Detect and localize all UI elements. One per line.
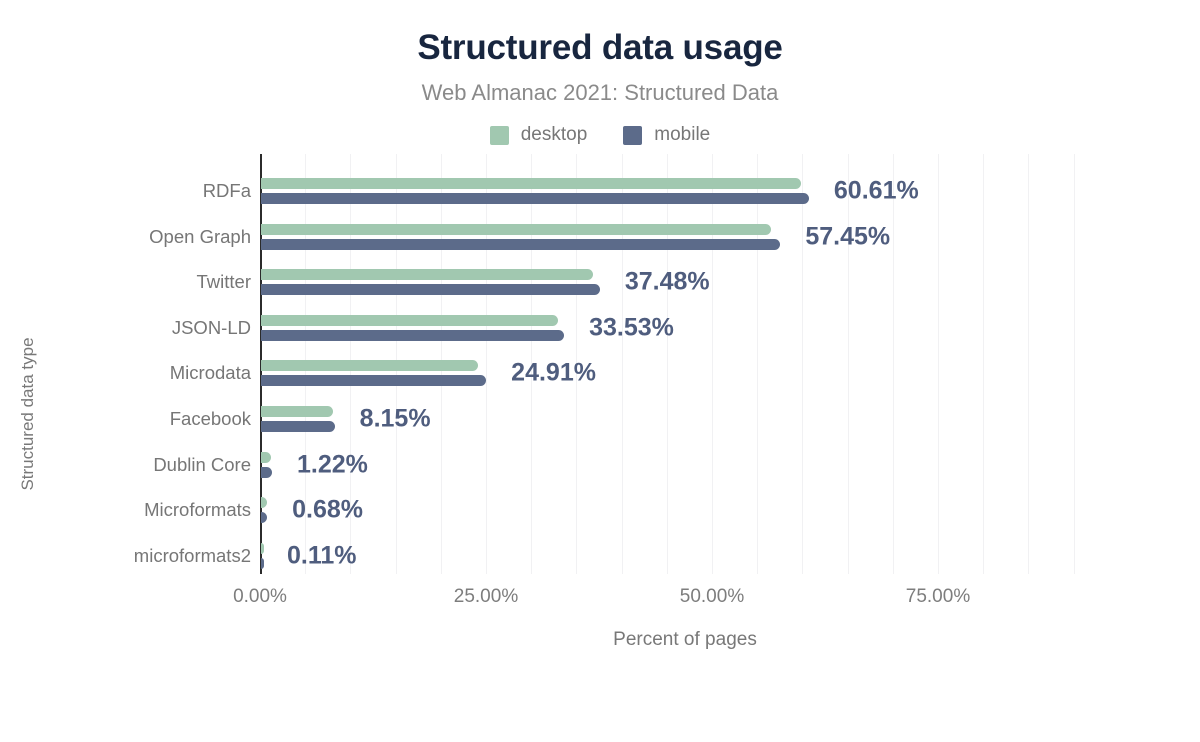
- chart-bar-group[interactable]: Dublin Core1.22%: [0, 442, 1200, 488]
- legend-swatch-mobile: [623, 126, 642, 145]
- page-title: Structured data usage: [0, 28, 1200, 68]
- x-axis-tick-label: 0.00%: [233, 586, 287, 608]
- x-axis-tick-label: 25.00%: [454, 586, 518, 608]
- x-axis-title: Percent of pages: [0, 629, 1200, 651]
- bar-mobile[interactable]: [261, 512, 267, 523]
- bar-mobile[interactable]: [261, 375, 486, 386]
- bar-desktop[interactable]: [261, 269, 593, 280]
- x-axis-title-text: Percent of pages: [613, 629, 757, 651]
- chart-bar-group[interactable]: Microformats0.68%: [0, 487, 1200, 533]
- chart-subtitle: Web Almanac 2021: Structured Data: [0, 80, 1200, 106]
- y-axis-tick-label: Microdata: [170, 362, 251, 384]
- legend-item-desktop[interactable]: desktop: [490, 124, 588, 146]
- chart-bar-group[interactable]: Twitter37.48%: [0, 259, 1200, 305]
- y-axis-tick-label: Twitter: [197, 271, 251, 293]
- y-axis-tick-label: microformats2: [134, 545, 251, 567]
- y-axis-tick-label: Microformats: [144, 499, 251, 521]
- bar-value-label: 37.48%: [625, 268, 710, 297]
- bar-mobile[interactable]: [261, 284, 600, 295]
- x-axis: 0.00%25.00%50.00%75.00%: [0, 574, 1200, 614]
- bar-value-label: 1.22%: [297, 450, 368, 479]
- legend-label-mobile: mobile: [654, 124, 710, 146]
- bar-desktop[interactable]: [261, 360, 478, 371]
- chart-bar-group[interactable]: Microdata24.91%: [0, 351, 1200, 397]
- bar-pair: [261, 360, 1041, 386]
- bar-pair: [261, 543, 1041, 569]
- bar-desktop[interactable]: [261, 452, 271, 463]
- bar-mobile[interactable]: [261, 193, 809, 204]
- bar-pair: [261, 224, 1041, 250]
- bar-value-label: 57.45%: [805, 222, 890, 251]
- bar-value-label: 24.91%: [511, 359, 596, 388]
- chart-bar-group[interactable]: microformats20.11%: [0, 533, 1200, 579]
- chart-header: Structured data usage Web Almanac 2021: …: [0, 0, 1200, 106]
- y-axis-tick-label: Facebook: [170, 408, 251, 430]
- bar-pair: [261, 178, 1041, 204]
- bar-value-label: 60.61%: [834, 177, 919, 206]
- y-axis-tick-label: Dublin Core: [153, 454, 251, 476]
- bar-pair: [261, 497, 1041, 523]
- chart-bar-group[interactable]: JSON-LD33.53%: [0, 305, 1200, 351]
- bar-value-label: 8.15%: [360, 405, 431, 434]
- bar-mobile[interactable]: [261, 558, 264, 569]
- bar-desktop[interactable]: [261, 406, 333, 417]
- bar-desktop[interactable]: [261, 315, 558, 326]
- chart-bar-rows: RDFa60.61%Open Graph57.45%Twitter37.48%J…: [0, 168, 1200, 578]
- bar-value-label: 33.53%: [589, 313, 674, 342]
- bar-pair: [261, 452, 1041, 478]
- chart-bar-group[interactable]: Open Graph57.45%: [0, 214, 1200, 260]
- bar-value-label: 0.11%: [287, 541, 357, 570]
- x-axis-tick-label: 50.00%: [680, 586, 744, 608]
- bar-desktop[interactable]: [261, 497, 267, 508]
- y-axis-tick-label: RDFa: [203, 180, 251, 202]
- chart-plot-area: Structured data type RDFa60.61%Open Grap…: [0, 154, 1200, 654]
- bar-mobile[interactable]: [261, 467, 272, 478]
- chart-bar-group[interactable]: RDFa60.61%: [0, 168, 1200, 214]
- y-axis-tick-label: Open Graph: [149, 226, 251, 248]
- legend-swatch-desktop: [490, 126, 509, 145]
- y-axis-tick-label: JSON-LD: [172, 317, 251, 339]
- x-axis-tick-label: 75.00%: [906, 586, 970, 608]
- bar-desktop[interactable]: [261, 543, 264, 554]
- bar-mobile[interactable]: [261, 239, 780, 250]
- legend-item-mobile[interactable]: mobile: [623, 124, 710, 146]
- bar-desktop[interactable]: [261, 178, 801, 189]
- bar-mobile[interactable]: [261, 330, 564, 341]
- chart-legend: desktop mobile: [0, 124, 1200, 146]
- bar-mobile[interactable]: [261, 421, 335, 432]
- legend-label-desktop: desktop: [521, 124, 588, 146]
- chart-bar-group[interactable]: Facebook8.15%: [0, 396, 1200, 442]
- bar-desktop[interactable]: [261, 224, 771, 235]
- bar-value-label: 0.68%: [292, 496, 363, 525]
